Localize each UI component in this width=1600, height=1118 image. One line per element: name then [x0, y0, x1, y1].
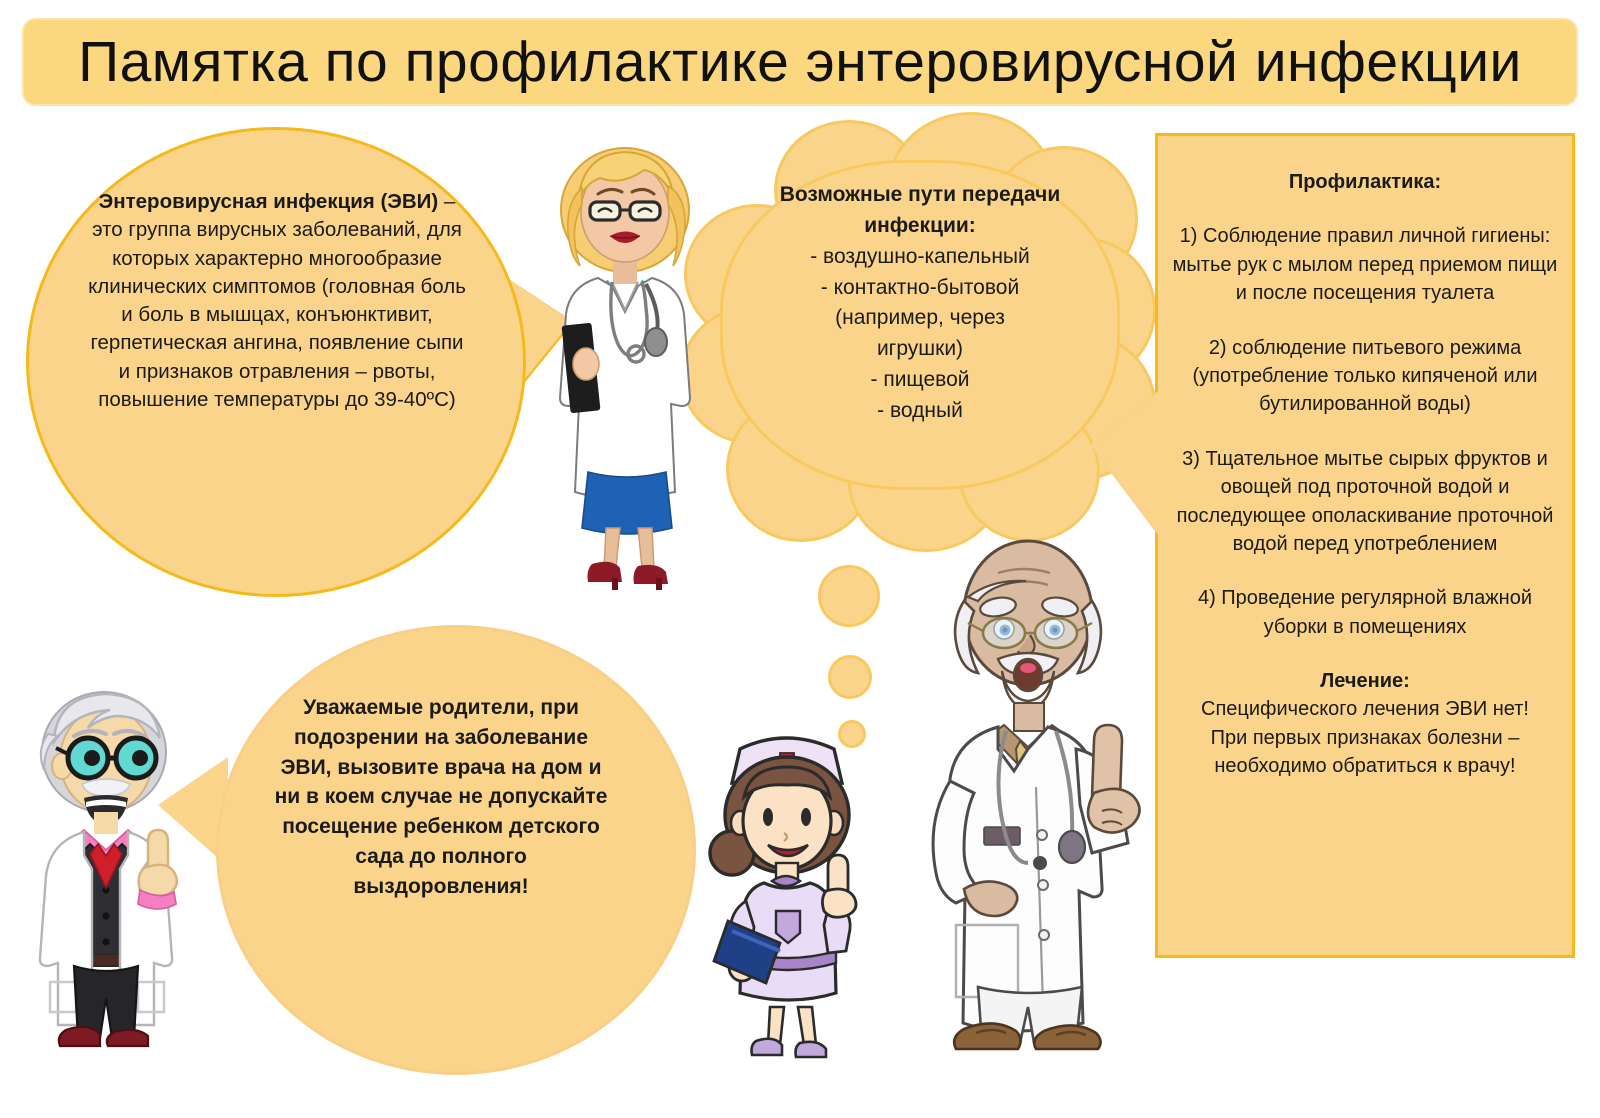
- transmission-item: - контактно-бытовой: [821, 276, 1019, 299]
- transmission-heading: Возможные пути передачи инфекции:: [780, 183, 1061, 237]
- thought-dot-large: [818, 565, 880, 627]
- prevention-item-4: 4) Проведение регулярной влажной уборки …: [1167, 584, 1563, 641]
- transmission-item: (например, через: [835, 306, 1005, 329]
- transmission-item: игрушки): [877, 337, 963, 360]
- transmission-item: - водный: [877, 399, 963, 422]
- parents-warning-text: Уважаемые родители, при подозрении на за…: [268, 693, 614, 902]
- page-title: Памятка по профилактике энтеровирусной и…: [78, 29, 1522, 95]
- prevention-item-3: 3) Тщательное мытье сырых фруктов и овощ…: [1167, 445, 1563, 559]
- female-doctor-illustration: [520, 132, 730, 592]
- small-doctor-illustration: [12, 662, 202, 1082]
- transmission-item: - пищевой: [871, 368, 970, 391]
- poster-title-bar: Памятка по профилактике энтеровирусной и…: [22, 18, 1578, 106]
- transmission-bubble-text: Возможные пути передачи инфекции: - возд…: [755, 180, 1085, 427]
- treatment-line-3: необходимо обратиться к врачу!: [1167, 752, 1563, 780]
- definition-body: – это группа вирусных заболеваний, для к…: [88, 190, 466, 411]
- transmission-item: - воздушно-капельный: [810, 245, 1030, 268]
- prevention-heading: Профилактика:: [1167, 168, 1563, 196]
- prevention-panel-tail: [1092, 391, 1160, 535]
- definition-bold-lead: Энтеровирусная инфекция (ЭВИ): [99, 190, 439, 213]
- thought-dot-medium: [828, 655, 872, 699]
- nurse-girl-illustration: [692, 705, 882, 1060]
- treatment-line-1: Специфического лечения ЭВИ нет!: [1167, 695, 1563, 723]
- prevention-item-2: 2) соблюдение питьевого режима (употребл…: [1167, 334, 1563, 419]
- poster-canvas: Памятка по профилактике энтеровирусной и…: [0, 0, 1600, 1118]
- treatment-line-2: При первых признаках болезни –: [1167, 724, 1563, 752]
- definition-bubble-text: Энтеровирусная инфекция (ЭВИ) – это груп…: [86, 188, 468, 414]
- prevention-panel-text: Профилактика: 1) Соблюдение правил лично…: [1167, 168, 1563, 781]
- prevention-item-1: 1) Соблюдение правил личной гигиены: мыт…: [1167, 222, 1563, 307]
- elder-doctor-illustration: [880, 535, 1170, 1065]
- treatment-heading: Лечение:: [1167, 667, 1563, 695]
